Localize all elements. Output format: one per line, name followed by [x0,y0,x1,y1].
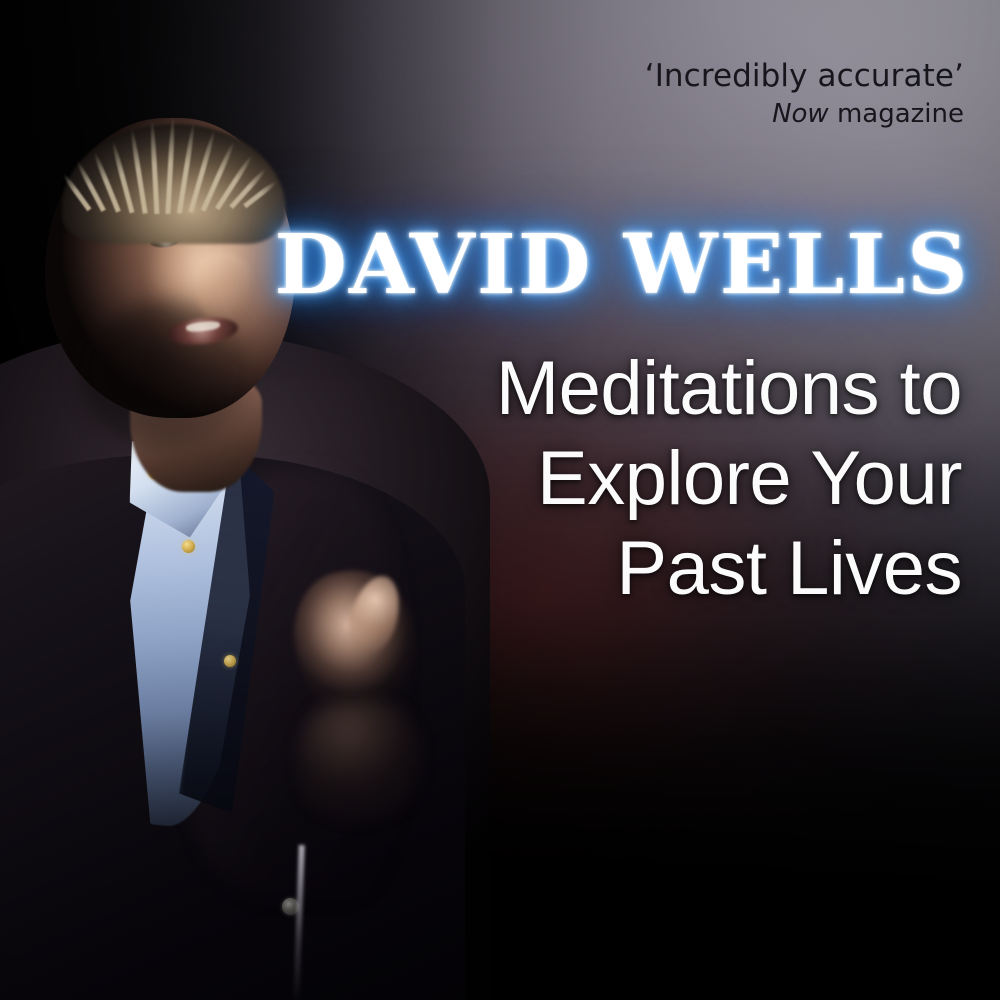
pull-quote: ‘Incredibly accurate’ Now magazine [645,56,964,132]
author-name: DAVID WELLS [275,222,970,308]
cover-title-line-1: Meditations to [496,344,962,434]
cover-title-line-2: Explore Your [496,434,962,524]
cover-title-line-3: Past Lives [496,524,962,614]
pull-quote-source: Now magazine [645,96,964,132]
cover-title: Meditations to Explore Your Past Lives [496,344,962,614]
cover-text-layer: ‘Incredibly accurate’ Now magazine DAVID… [0,0,1000,1000]
pull-quote-text: ‘Incredibly accurate’ [645,56,964,96]
audiobook-cover: ‘Incredibly accurate’ Now magazine DAVID… [0,0,1000,1000]
pull-quote-source-rest: magazine [829,99,964,129]
pull-quote-source-emphasis: Now [772,99,829,129]
